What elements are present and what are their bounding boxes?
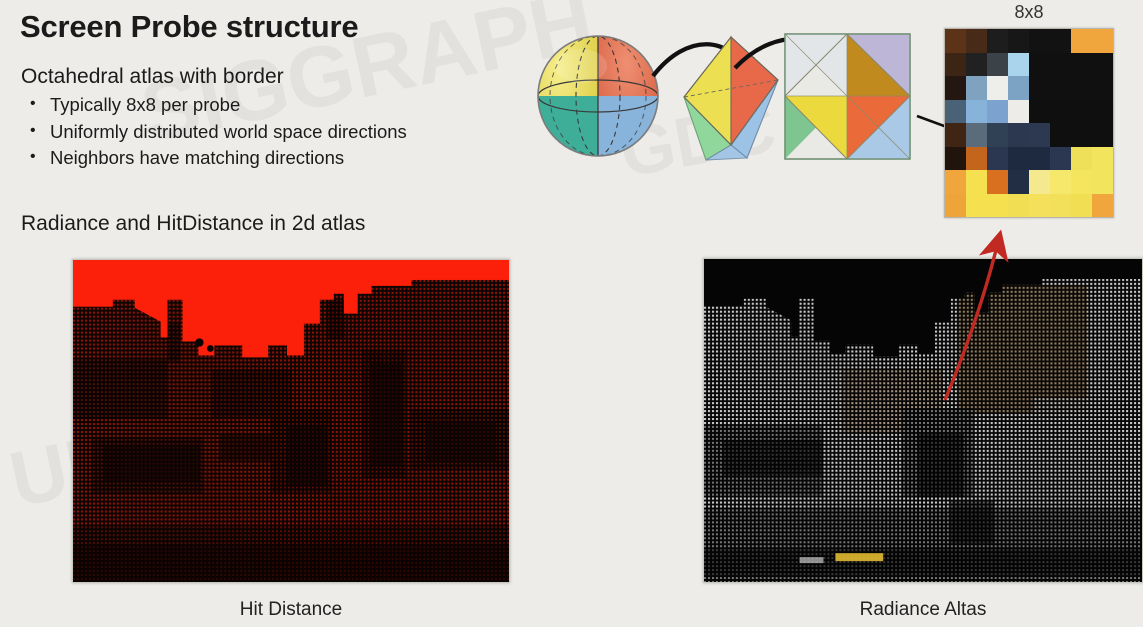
texel-cell [1071, 147, 1092, 171]
texel-cell [966, 194, 987, 218]
texel-cell [966, 147, 987, 171]
texel-cell [987, 100, 1008, 124]
texel-cell [1071, 194, 1092, 218]
texel-cell [1008, 147, 1029, 171]
texel-cell [1092, 29, 1113, 53]
unfolded-atlas-illustration [785, 34, 910, 159]
texel-cell [987, 53, 1008, 77]
texel-cell [1092, 76, 1113, 100]
texel-cell [987, 29, 1008, 53]
bullet-item: Typically 8x8 per probe [24, 92, 407, 119]
texel-cell [1029, 53, 1050, 77]
texel-cell [945, 53, 966, 77]
texel-cell [1008, 194, 1029, 218]
texel-grid [944, 28, 1114, 218]
texel-cell [1092, 123, 1113, 147]
texel-cell [1008, 170, 1029, 194]
texel-cell [945, 194, 966, 218]
texel-cell [1029, 123, 1050, 147]
texel-cell [945, 29, 966, 53]
texel-cell [1071, 123, 1092, 147]
texel-cell [1008, 123, 1029, 147]
texel-cell [1050, 194, 1071, 218]
texel-cell [1029, 100, 1050, 124]
texel-cell [1029, 76, 1050, 100]
texel-cell [945, 123, 966, 147]
bullet-item: Neighbors have matching directions [24, 145, 407, 172]
texel-cell [945, 100, 966, 124]
texel-cell [1008, 76, 1029, 100]
texel-cell [1050, 100, 1071, 124]
subheading: Octahedral atlas with border [21, 65, 284, 89]
texel-cell [987, 194, 1008, 218]
texel-cell [1008, 53, 1029, 77]
texel-cell [966, 100, 987, 124]
octahedron-illustration [684, 37, 778, 160]
radiance-atlas-caption: Radiance Altas [703, 599, 1143, 621]
texel-cell [1071, 53, 1092, 77]
texel-cell [945, 170, 966, 194]
texel-cell [1050, 76, 1071, 100]
secondary-heading: Radiance and HitDistance in 2d atlas [21, 212, 365, 236]
texel-cell [945, 76, 966, 100]
texel-cell [966, 170, 987, 194]
texel-cell [1050, 123, 1071, 147]
texel-cell [1092, 194, 1113, 218]
texel-cell [1029, 29, 1050, 53]
texel-cell [966, 53, 987, 77]
texel-cell [1071, 29, 1092, 53]
texel-cell [987, 123, 1008, 147]
texel-cell [1092, 100, 1113, 124]
texel-cell [1050, 53, 1071, 77]
texel-cell [1050, 170, 1071, 194]
hit-distance-caption: Hit Distance [72, 599, 510, 621]
texel-cell [1050, 29, 1071, 53]
texel-cell [987, 170, 1008, 194]
texel-cell [1071, 76, 1092, 100]
texel-cell [945, 147, 966, 171]
atlas-size-label: 8x8 [944, 2, 1114, 23]
texel-atlas [944, 28, 1114, 218]
texel-cell [1029, 147, 1050, 171]
hit-distance-image [72, 259, 510, 583]
texel-cell [1008, 29, 1029, 53]
radiance-atlas-image [703, 258, 1143, 583]
texel-cell [987, 147, 1008, 171]
bullet-item: Uniformly distributed world space direct… [24, 119, 407, 146]
texel-cell [1071, 170, 1092, 194]
sphere-illustration [538, 36, 658, 156]
texel-cell [987, 76, 1008, 100]
texel-cell [1092, 170, 1113, 194]
texel-cell [1092, 53, 1113, 77]
slide-title: Screen Probe structure [20, 9, 358, 45]
texel-cell [966, 123, 987, 147]
texel-cell [1008, 100, 1029, 124]
texel-cell [966, 76, 987, 100]
texel-cell [1029, 194, 1050, 218]
texel-cell [1050, 147, 1071, 171]
texel-cell [1029, 170, 1050, 194]
texel-cell [1092, 147, 1113, 171]
texel-cell [1071, 100, 1092, 124]
texel-cell [966, 29, 987, 53]
bullet-list: Typically 8x8 per probe Uniformly distri… [24, 92, 407, 172]
